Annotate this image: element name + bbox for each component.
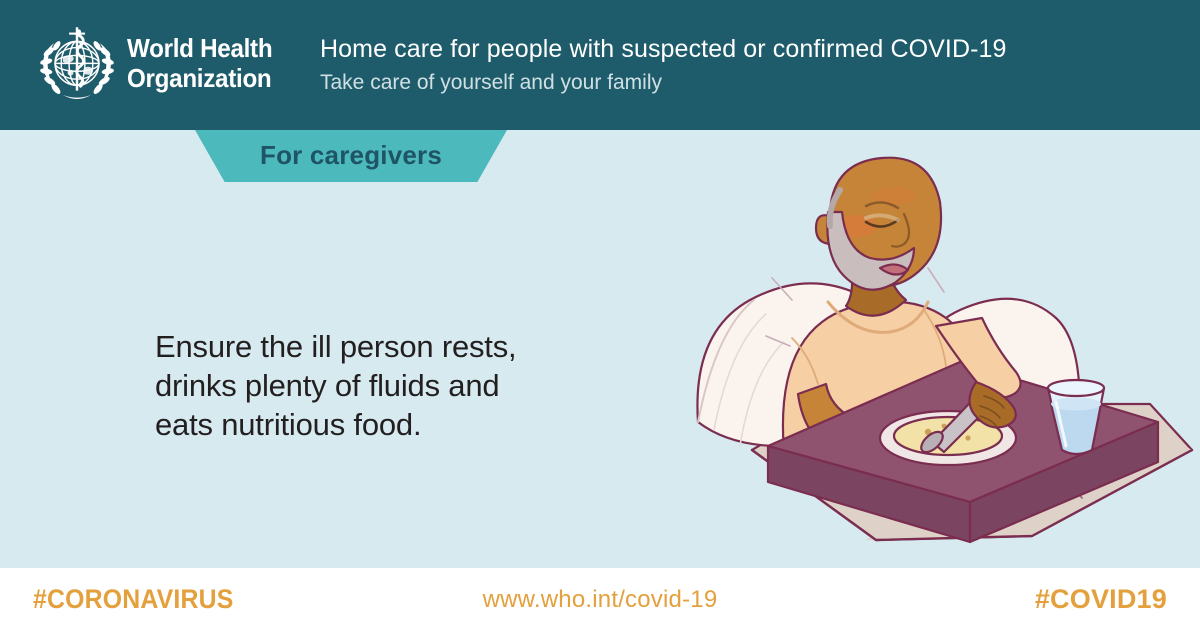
- footer-bar: #CORONAVIRUS www.who.int/covid-19 #COVID…: [0, 568, 1200, 628]
- category-tab: For caregivers: [195, 130, 507, 182]
- page-title: Home care for people with suspected or c…: [320, 34, 1007, 64]
- header-divider: [303, 22, 304, 108]
- who-emblem-icon: [33, 22, 121, 110]
- elderly-man-eating-in-bed-illustration: [680, 150, 1200, 562]
- message-line-1: Ensure the ill person rests,: [155, 327, 585, 366]
- who-wordmark-line1: World Health: [127, 33, 272, 63]
- who-wordmark-line2: Organization: [127, 63, 272, 93]
- message-text: Ensure the ill person rests, drinks plen…: [155, 327, 585, 444]
- who-website-url[interactable]: www.who.int/covid-19: [0, 586, 1200, 614]
- who-wordmark: World Health Organization: [127, 33, 272, 93]
- hashtag-covid19: #COVID19: [1035, 584, 1167, 615]
- message-line-2: drinks plenty of fluids and: [155, 366, 585, 405]
- page-subtitle: Take care of yourself and your family: [320, 70, 662, 96]
- header-bar: World Health Organization Home care for …: [0, 0, 1200, 130]
- category-tab-label: For caregivers: [195, 130, 507, 182]
- who-covid19-infographic: World Health Organization Home care for …: [0, 0, 1200, 628]
- message-line-3: eats nutritious food.: [155, 405, 585, 444]
